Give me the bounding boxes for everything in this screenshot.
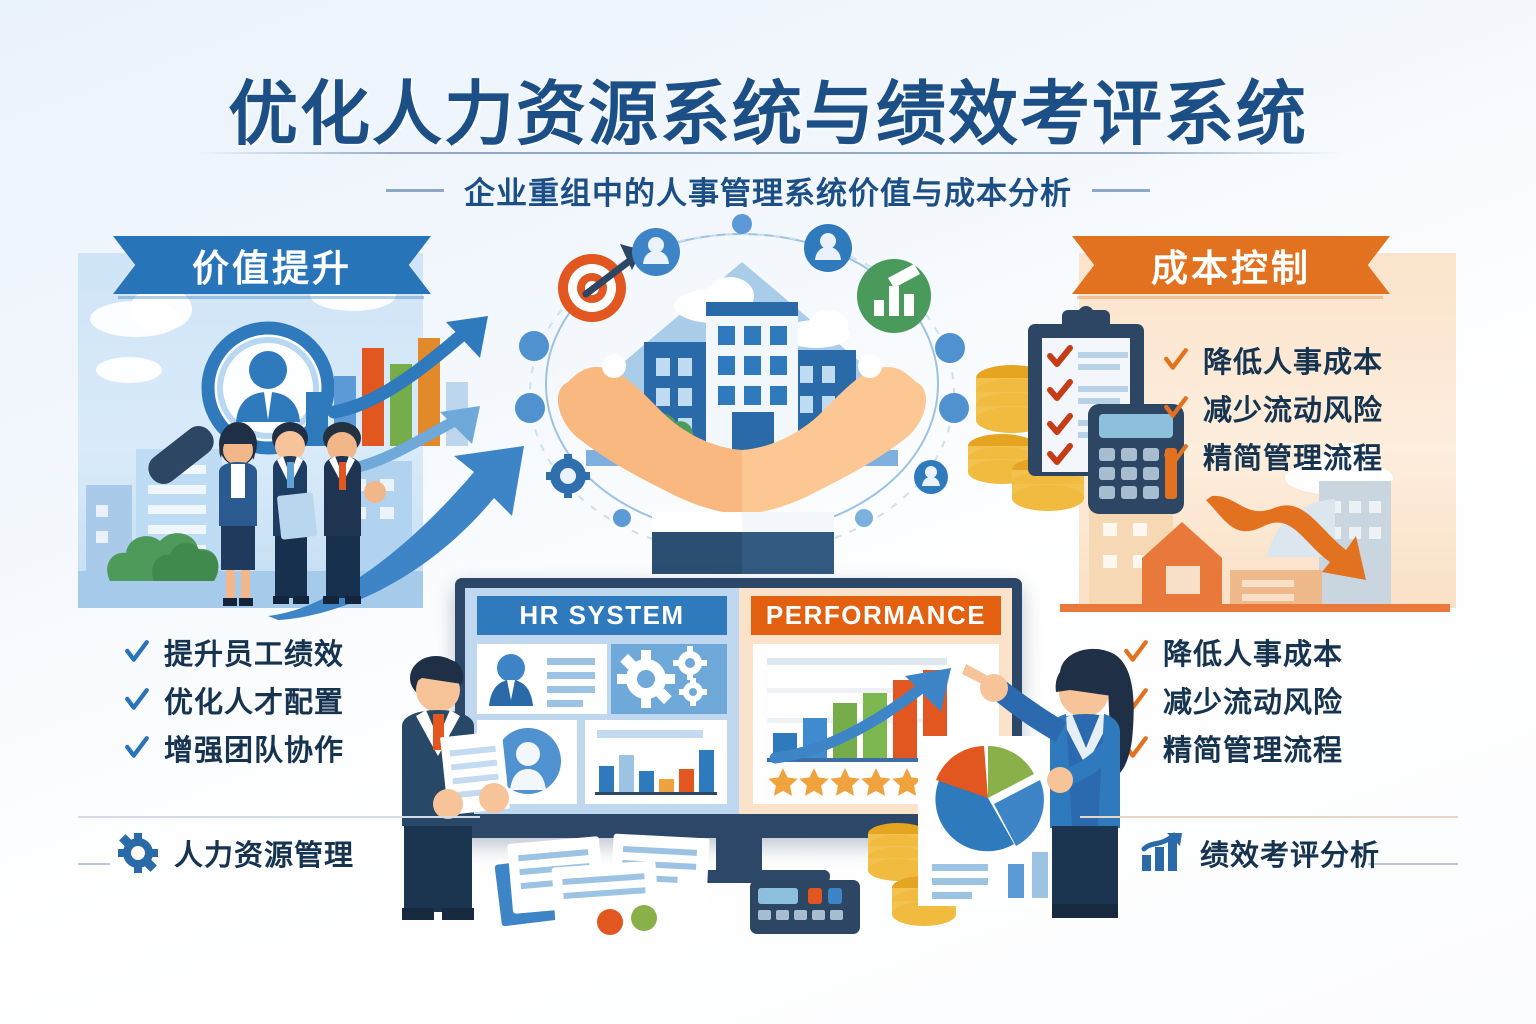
- cost-bullets-top: 降低人事成本 减少流动风险 精简管理流程: [1163, 336, 1383, 480]
- subtitle-dash-right: [1092, 189, 1150, 192]
- list-item: 降低人事成本: [1163, 336, 1383, 384]
- gear-icon: [118, 833, 158, 873]
- user-node-icon: [914, 460, 948, 494]
- list-item-label: 降低人事成本: [1203, 339, 1383, 381]
- footer-top-rule-left: [78, 816, 480, 818]
- value-bullets: 提升员工绩效 优化人才配置 增强团队协作: [124, 628, 344, 772]
- footer-rule-right: [1368, 863, 1458, 865]
- calculator-icon: [750, 880, 860, 934]
- check-icon: [124, 639, 150, 665]
- footer-hr-management[interactable]: 人力资源管理: [118, 832, 354, 874]
- check-icon: [124, 735, 150, 761]
- ribbon-underline-right: [1077, 296, 1383, 299]
- ribbon-underline-left: [118, 296, 424, 299]
- hands-holding-company-scene: [516, 214, 968, 574]
- gear-icon: [617, 650, 675, 708]
- value-ribbon: 价值提升: [113, 236, 431, 294]
- footer-performance-analysis[interactable]: 绩效考评分析: [1140, 832, 1380, 874]
- businessman-figure: [378, 652, 508, 920]
- gear-node-icon: [546, 454, 590, 498]
- list-item-label: 精简管理流程: [1163, 727, 1343, 769]
- hr-system-header: HR SYSTEM: [477, 596, 727, 635]
- list-item-label: 减少流动风险: [1163, 679, 1343, 721]
- list-item: 精简管理流程: [1163, 432, 1383, 480]
- footer-top-rule-right: [1080, 816, 1458, 818]
- list-item-label: 减少流动风险: [1203, 387, 1383, 429]
- businesswoman-figure: [1022, 648, 1162, 920]
- list-item: 提升员工绩效: [124, 628, 344, 676]
- check-icon: [1163, 395, 1189, 421]
- page-title: 优化人力资源系统与绩效考评系统: [0, 58, 1536, 159]
- check-icon: [1163, 347, 1189, 373]
- footer-rule-left: [78, 863, 110, 865]
- subtitle-row: 企业重组中的人事管理系统价值与成本分析: [0, 168, 1536, 213]
- list-item-label: 增强团队协作: [164, 727, 344, 769]
- gear-icon: [679, 678, 707, 706]
- gear-icon: [673, 646, 707, 680]
- bar-chart-growth-icon: [1140, 833, 1184, 873]
- cost-ribbon: 成本控制: [1072, 236, 1390, 294]
- title-divider: [196, 152, 1342, 154]
- list-item-label: 提升员工绩效: [164, 631, 344, 673]
- check-icon: [124, 687, 150, 713]
- list-item-label: 优化人才配置: [164, 679, 344, 721]
- settings-gears-tile[interactable]: [611, 644, 727, 714]
- document-dot: [631, 905, 657, 931]
- list-item-label: 降低人事成本: [1163, 631, 1343, 673]
- documents-stack: [496, 826, 734, 942]
- page-subtitle: 企业重组中的人事管理系统价值与成本分析: [464, 168, 1072, 213]
- footer-label: 人力资源管理: [174, 832, 354, 874]
- subtitle-dash-left: [386, 189, 444, 192]
- footer-label: 绩效考评分析: [1200, 832, 1380, 874]
- list-item: 减少流动风险: [1163, 384, 1383, 432]
- list-item: 优化人才配置: [124, 676, 344, 724]
- infographic-canvas: 优化人力资源系统与绩效考评系统 企业重组中的人事管理系统价值与成本分析: [0, 0, 1536, 1024]
- check-icon: [1163, 443, 1189, 469]
- performance-header: PERFORMANCE: [751, 596, 1001, 635]
- list-item-label: 精简管理流程: [1203, 435, 1383, 477]
- business-team-figures: [205, 410, 390, 610]
- hr-mini-bar-chart[interactable]: [585, 720, 727, 804]
- document-dot: [597, 909, 623, 935]
- list-item: 增强团队协作: [124, 724, 344, 772]
